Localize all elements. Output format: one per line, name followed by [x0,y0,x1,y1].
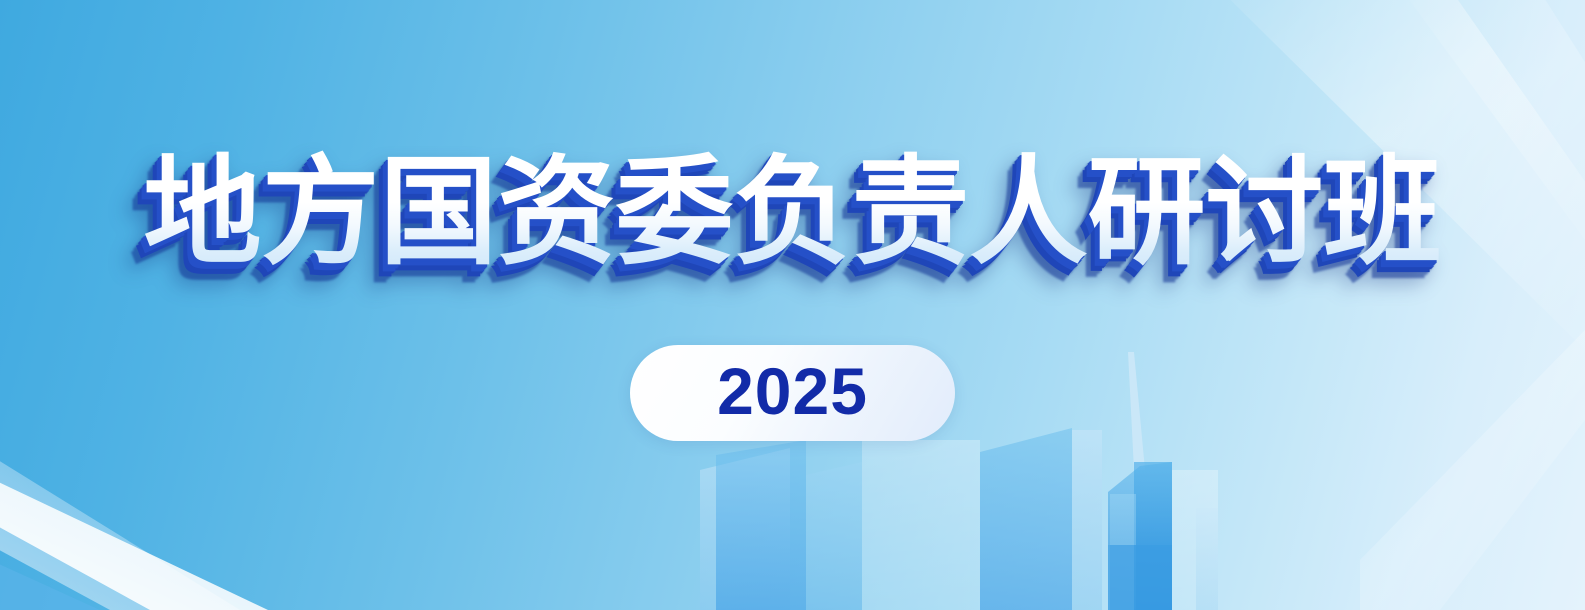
event-banner: 地方国资委负责人研讨班 2025 [0,0,1585,610]
year-badge: 2025 [630,345,955,441]
banner-title-row: 地方国资委负责人研讨班 [0,150,1585,275]
city-skyline [700,428,1102,610]
light-ribbon-bottom-left [0,455,268,610]
background-decoration [0,0,1585,610]
year-badge-label: 2025 [717,358,868,424]
background-artwork [0,0,1585,610]
year-badge-row: 2025 [0,345,1585,441]
banner-title: 地方国资委负责人研讨班 [143,150,1441,275]
